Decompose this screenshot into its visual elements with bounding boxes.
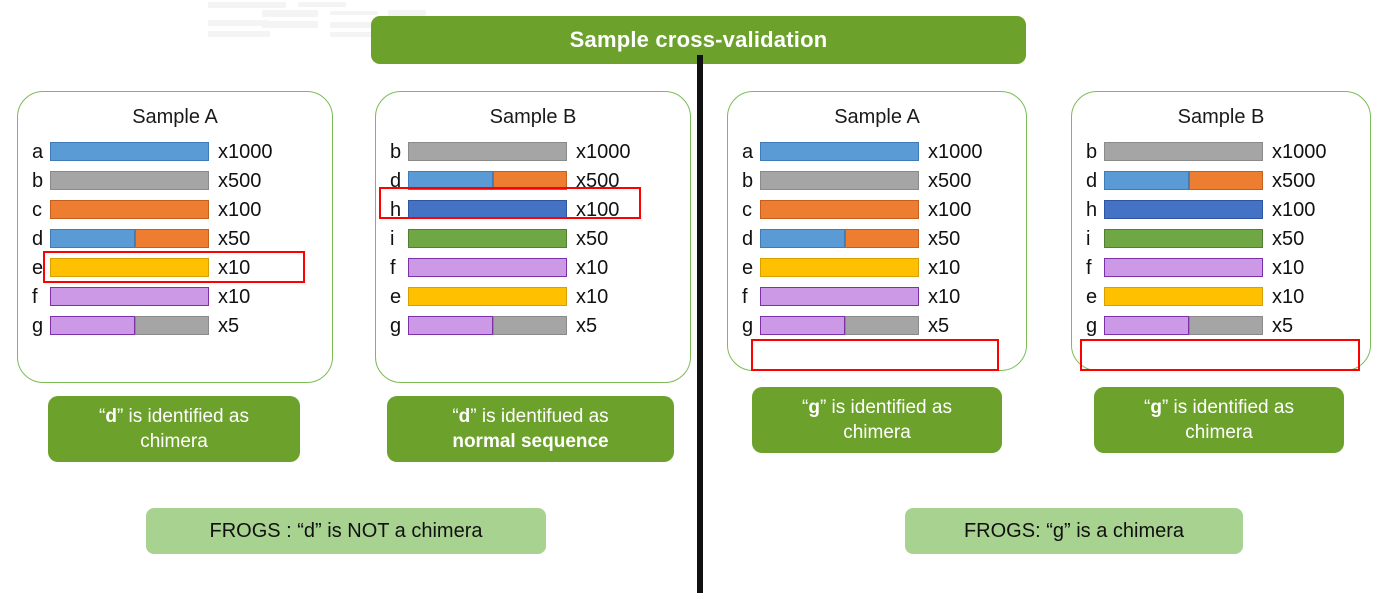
conclusion-text: “d” is identifued asnormal sequence bbox=[452, 404, 608, 454]
sequence-row: dx500 bbox=[390, 166, 680, 195]
bar-segment-gray bbox=[845, 316, 919, 335]
frogs-verdict-text: FROGS: “g” is a chimera bbox=[964, 520, 1184, 543]
sequence-bar bbox=[408, 316, 567, 335]
sequence-row: ix50 bbox=[390, 224, 680, 253]
bar-segment-gray bbox=[760, 171, 919, 190]
ghost-artifact bbox=[298, 2, 346, 7]
sequence-bar bbox=[50, 258, 209, 277]
sequence-row: bx500 bbox=[32, 166, 322, 195]
sequence-bar bbox=[408, 229, 567, 248]
conclusion-emphasis: chimera bbox=[843, 422, 911, 443]
diagram-title-text: Sample cross-validation bbox=[570, 27, 828, 53]
sequence-bar bbox=[408, 200, 567, 219]
sequence-row: ex10 bbox=[1086, 282, 1360, 311]
sequence-label: c bbox=[742, 200, 760, 220]
sequence-count: x5 bbox=[1272, 316, 1293, 336]
sequence-label: h bbox=[1086, 200, 1104, 220]
sequence-bar bbox=[760, 316, 919, 335]
sequence-label: h bbox=[390, 200, 408, 220]
sequence-count: x10 bbox=[1272, 258, 1304, 278]
sequence-row: cx100 bbox=[742, 195, 1016, 224]
sequence-count: x100 bbox=[928, 200, 971, 220]
bar-segment-gray bbox=[408, 142, 567, 161]
sequence-row: hx100 bbox=[1086, 195, 1360, 224]
bar-segment-blue bbox=[760, 229, 845, 248]
sequence-label: e bbox=[742, 258, 760, 278]
sequence-label: a bbox=[32, 142, 50, 162]
bar-segment-violet bbox=[50, 287, 209, 306]
sequence-bar bbox=[408, 142, 567, 161]
sequence-bar bbox=[1104, 142, 1263, 161]
bar-segment-blue bbox=[50, 142, 209, 161]
sequence-count: x500 bbox=[218, 171, 261, 191]
sequence-bar bbox=[760, 287, 919, 306]
conclusion-sequence-id: g bbox=[808, 397, 820, 418]
sequence-label: e bbox=[390, 287, 408, 307]
sequence-label: g bbox=[390, 316, 408, 336]
sequence-bar bbox=[1104, 258, 1263, 277]
sequence-count: x500 bbox=[576, 171, 619, 191]
bar-segment-orange bbox=[845, 229, 919, 248]
sequence-bar bbox=[50, 171, 209, 190]
sequence-count: x50 bbox=[218, 229, 250, 249]
sequence-bar bbox=[1104, 171, 1263, 190]
sequence-row: bx500 bbox=[742, 166, 1016, 195]
sequence-count: x50 bbox=[1272, 229, 1304, 249]
bar-segment-orange bbox=[135, 229, 209, 248]
panel-title: Sample A bbox=[18, 106, 332, 129]
ghost-artifact bbox=[208, 20, 268, 26]
ghost-artifact bbox=[208, 31, 270, 37]
bar-segment-green bbox=[1104, 229, 1263, 248]
sequence-bar bbox=[408, 287, 567, 306]
sequence-label: f bbox=[1086, 258, 1104, 278]
conclusion-right-b: “g” is identified aschimera bbox=[1094, 387, 1344, 453]
conclusion-left-a: “d” is identified aschimera bbox=[48, 396, 300, 462]
sequence-label: e bbox=[1086, 287, 1104, 307]
sequence-bar bbox=[1104, 229, 1263, 248]
sequence-label: g bbox=[1086, 316, 1104, 336]
sequence-label: c bbox=[32, 200, 50, 220]
sequence-count: x1000 bbox=[218, 142, 273, 162]
bar-segment-gold bbox=[760, 258, 919, 277]
sequence-bar bbox=[760, 229, 919, 248]
sequence-bar bbox=[760, 200, 919, 219]
sequence-row: bx1000 bbox=[1086, 137, 1360, 166]
sequence-label: f bbox=[390, 258, 408, 278]
sequence-count: x500 bbox=[1272, 171, 1315, 191]
sequence-row: fx10 bbox=[390, 253, 680, 282]
conclusion-sequence-id: d bbox=[459, 406, 471, 427]
sequence-label: g bbox=[742, 316, 760, 336]
bar-segment-violet bbox=[760, 287, 919, 306]
sequence-bar bbox=[408, 258, 567, 277]
bar-segment-gray bbox=[1189, 316, 1263, 335]
sequence-bar bbox=[1104, 287, 1263, 306]
panel-left-sample-a: Sample A ax1000bx500cx100dx50ex10fx10gx5 bbox=[17, 91, 333, 383]
bar-segment-violet bbox=[760, 316, 845, 335]
sequence-row: gx5 bbox=[1086, 311, 1360, 340]
bar-segment-violet bbox=[50, 316, 135, 335]
bar-segment-orange bbox=[1189, 171, 1263, 190]
sequence-bar bbox=[760, 142, 919, 161]
panel-title: Sample A bbox=[728, 106, 1026, 129]
bar-segment-violet bbox=[408, 258, 567, 277]
bar-segment-gray bbox=[1104, 142, 1263, 161]
bar-segment-violet bbox=[408, 316, 493, 335]
sequence-bar bbox=[1104, 200, 1263, 219]
sequence-row: ix50 bbox=[1086, 224, 1360, 253]
panel-title: Sample B bbox=[376, 106, 690, 129]
sequence-count: x1000 bbox=[576, 142, 631, 162]
sequence-row: hx100 bbox=[390, 195, 680, 224]
sequence-bar bbox=[760, 258, 919, 277]
sequence-label: d bbox=[1086, 171, 1104, 191]
ghost-artifact bbox=[262, 10, 318, 17]
sequence-row: fx10 bbox=[742, 282, 1016, 311]
sequence-bar bbox=[408, 171, 567, 190]
sequence-label: d bbox=[390, 171, 408, 191]
sequence-label: g bbox=[32, 316, 50, 336]
sequence-rows: ax1000bx500cx100dx50ex10fx10gx5 bbox=[728, 137, 1026, 340]
sequence-rows: bx1000dx500hx100ix50fx10ex10gx5 bbox=[376, 137, 690, 340]
bar-segment-blue bbox=[50, 229, 135, 248]
sequence-label: e bbox=[32, 258, 50, 278]
sequence-count: x1000 bbox=[928, 142, 983, 162]
panel-right-sample-b: Sample B bx1000dx500hx100ix50fx10ex10gx5 bbox=[1071, 91, 1371, 371]
sequence-count: x10 bbox=[218, 287, 250, 307]
sequence-rows: ax1000bx500cx100dx50ex10fx10gx5 bbox=[18, 137, 332, 340]
bar-segment-blue bbox=[1104, 171, 1189, 190]
conclusion-left-b: “d” is identifued asnormal sequence bbox=[387, 396, 674, 462]
sequence-bar bbox=[50, 229, 209, 248]
bar-segment-orange bbox=[50, 200, 209, 219]
sequence-label: b bbox=[390, 142, 408, 162]
bar-segment-blue bbox=[408, 171, 493, 190]
sequence-bar bbox=[1104, 316, 1263, 335]
bar-segment-gray bbox=[50, 171, 209, 190]
sequence-row: fx10 bbox=[1086, 253, 1360, 282]
sequence-row: ex10 bbox=[742, 253, 1016, 282]
sequence-rows: bx1000dx500hx100ix50fx10ex10gx5 bbox=[1072, 137, 1370, 340]
sequence-row: gx5 bbox=[390, 311, 680, 340]
sequence-count: x10 bbox=[576, 258, 608, 278]
bar-segment-blue bbox=[760, 142, 919, 161]
conclusion-right-a: “g” is identified aschimera bbox=[752, 387, 1002, 453]
sequence-label: f bbox=[742, 287, 760, 307]
sequence-count: x10 bbox=[218, 258, 250, 278]
frogs-verdict-right: FROGS: “g” is a chimera bbox=[905, 508, 1243, 554]
sequence-row: gx5 bbox=[32, 311, 322, 340]
panel-title: Sample B bbox=[1072, 106, 1370, 129]
sequence-count: x5 bbox=[576, 316, 597, 336]
sequence-row: ax1000 bbox=[32, 137, 322, 166]
diagram-canvas: Sample cross-validation Sample A ax1000b… bbox=[0, 0, 1385, 593]
bar-segment-violet bbox=[1104, 316, 1189, 335]
sequence-row: ex10 bbox=[32, 253, 322, 282]
conclusion-text: “g” is identified aschimera bbox=[802, 395, 952, 445]
sequence-count: x10 bbox=[928, 287, 960, 307]
sequence-count: x1000 bbox=[1272, 142, 1327, 162]
sequence-row: dx500 bbox=[1086, 166, 1360, 195]
sequence-count: x10 bbox=[576, 287, 608, 307]
sequence-label: i bbox=[390, 229, 408, 249]
sequence-label: a bbox=[742, 142, 760, 162]
sequence-bar bbox=[50, 316, 209, 335]
sequence-count: x10 bbox=[1272, 287, 1304, 307]
sequence-row: gx5 bbox=[742, 311, 1016, 340]
sequence-bar bbox=[760, 171, 919, 190]
conclusion-emphasis: normal sequence bbox=[452, 431, 608, 452]
bar-segment-gray bbox=[493, 316, 567, 335]
bar-segment-green bbox=[408, 229, 567, 248]
bar-segment-orange bbox=[760, 200, 919, 219]
sequence-bar bbox=[50, 142, 209, 161]
sequence-count: x5 bbox=[928, 316, 949, 336]
bar-segment-gold bbox=[408, 287, 567, 306]
sequence-label: b bbox=[1086, 142, 1104, 162]
frogs-verdict-left: FROGS : “d” is NOT a chimera bbox=[146, 508, 546, 554]
bar-segment-orange bbox=[493, 171, 567, 190]
sequence-count: x500 bbox=[928, 171, 971, 191]
sequence-label: i bbox=[1086, 229, 1104, 249]
conclusion-text: “d” is identified aschimera bbox=[99, 404, 249, 454]
vertical-divider bbox=[697, 55, 703, 593]
conclusion-text: “g” is identified aschimera bbox=[1144, 395, 1294, 445]
sequence-label: b bbox=[32, 171, 50, 191]
sequence-count: x5 bbox=[218, 316, 239, 336]
sequence-label: d bbox=[32, 229, 50, 249]
sequence-row: cx100 bbox=[32, 195, 322, 224]
conclusion-emphasis: chimera bbox=[140, 431, 208, 452]
sequence-row: dx50 bbox=[32, 224, 322, 253]
sequence-count: x10 bbox=[928, 258, 960, 278]
conclusion-emphasis: chimera bbox=[1185, 422, 1253, 443]
bar-segment-gray bbox=[135, 316, 209, 335]
ghost-artifact bbox=[208, 2, 286, 8]
sequence-count: x50 bbox=[576, 229, 608, 249]
panel-right-sample-a: Sample A ax1000bx500cx100dx50ex10fx10gx5 bbox=[727, 91, 1027, 371]
panel-left-sample-b: Sample B bx1000dx500hx100ix50fx10ex10gx5 bbox=[375, 91, 691, 383]
sequence-row: dx50 bbox=[742, 224, 1016, 253]
bar-segment-gold bbox=[1104, 287, 1263, 306]
sequence-label: b bbox=[742, 171, 760, 191]
bar-segment-violet bbox=[1104, 258, 1263, 277]
ghost-artifact bbox=[330, 11, 378, 15]
sequence-row: ax1000 bbox=[742, 137, 1016, 166]
sequence-row: fx10 bbox=[32, 282, 322, 311]
sequence-bar bbox=[50, 287, 209, 306]
sequence-label: d bbox=[742, 229, 760, 249]
frogs-verdict-text: FROGS : “d” is NOT a chimera bbox=[209, 520, 482, 543]
bar-segment-darkblue bbox=[408, 200, 567, 219]
conclusion-sequence-id: d bbox=[105, 406, 117, 427]
sequence-count: x50 bbox=[928, 229, 960, 249]
sequence-label: f bbox=[32, 287, 50, 307]
bar-segment-darkblue bbox=[1104, 200, 1263, 219]
sequence-row: bx1000 bbox=[390, 137, 680, 166]
sequence-bar bbox=[50, 200, 209, 219]
ghost-artifact bbox=[262, 21, 318, 28]
sequence-row: ex10 bbox=[390, 282, 680, 311]
conclusion-sequence-id: g bbox=[1150, 397, 1162, 418]
sequence-count: x100 bbox=[576, 200, 619, 220]
sequence-count: x100 bbox=[1272, 200, 1315, 220]
bar-segment-gold bbox=[50, 258, 209, 277]
sequence-count: x100 bbox=[218, 200, 261, 220]
